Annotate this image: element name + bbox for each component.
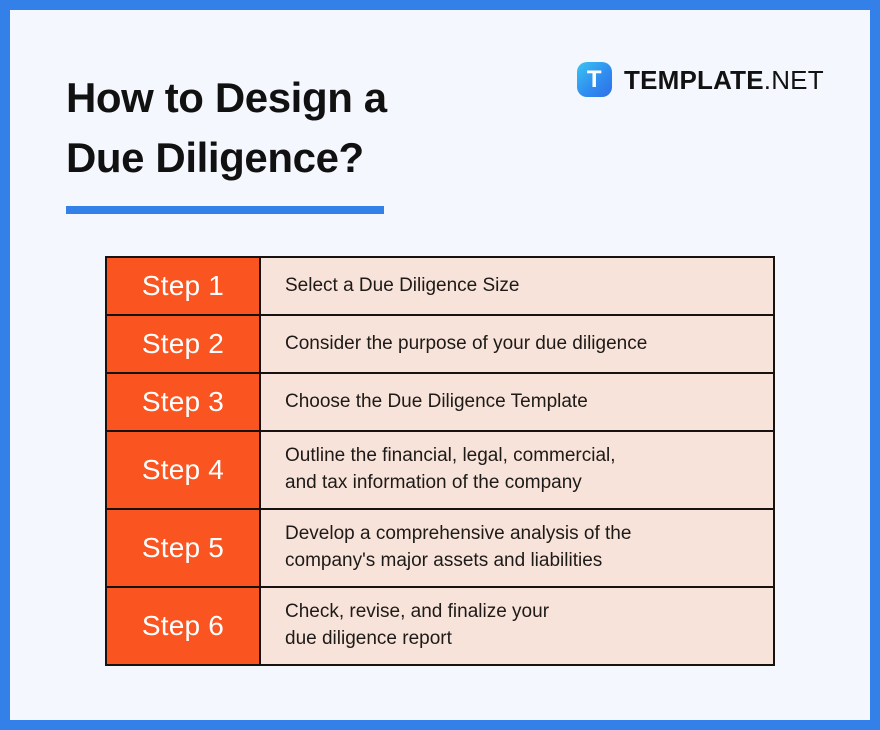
step-label-4: Step 4 bbox=[106, 431, 260, 509]
steps-table: Step 1 Select a Due Diligence Size Step … bbox=[105, 256, 775, 666]
template-net-logo-icon: T bbox=[577, 62, 612, 97]
step-label-1: Step 1 bbox=[106, 257, 260, 315]
logo-brand-text: TEMPLATE bbox=[624, 65, 764, 95]
table-row: Step 2 Consider the purpose of your due … bbox=[106, 315, 774, 373]
step-description-1: Select a Due Diligence Size bbox=[260, 257, 774, 315]
step-label-6: Step 6 bbox=[106, 587, 260, 665]
table-row: Step 5 Develop a comprehensive analysis … bbox=[106, 509, 774, 587]
logo-mark-letter: T bbox=[587, 68, 602, 92]
page-title: How to Design a Due Diligence? bbox=[66, 68, 387, 187]
step-description-2: Consider the purpose of your due diligen… bbox=[260, 315, 774, 373]
logo-tld-text: .NET bbox=[764, 65, 824, 95]
step-description-6: Check, revise, and finalize your due dil… bbox=[260, 587, 774, 665]
header: How to Design a Due Diligence? T TEMPLAT… bbox=[10, 10, 870, 220]
step-description-5: Develop a comprehensive analysis of the … bbox=[260, 509, 774, 587]
step-label-5: Step 5 bbox=[106, 509, 260, 587]
title-underline-accent bbox=[66, 206, 384, 214]
table-row: Step 6 Check, revise, and finalize your … bbox=[106, 587, 774, 665]
template-net-logo: T TEMPLATE.NET bbox=[577, 62, 824, 97]
table-row: Step 4 Outline the financial, legal, com… bbox=[106, 431, 774, 509]
step-description-4: Outline the financial, legal, commercial… bbox=[260, 431, 774, 509]
step-description-3: Choose the Due Diligence Template bbox=[260, 373, 774, 431]
table-row: Step 1 Select a Due Diligence Size bbox=[106, 257, 774, 315]
table-row: Step 3 Choose the Due Diligence Template bbox=[106, 373, 774, 431]
step-label-2: Step 2 bbox=[106, 315, 260, 373]
infographic-page: How to Design a Due Diligence? T TEMPLAT… bbox=[10, 10, 870, 720]
logo-wordmark: TEMPLATE.NET bbox=[624, 67, 824, 93]
step-label-3: Step 3 bbox=[106, 373, 260, 431]
